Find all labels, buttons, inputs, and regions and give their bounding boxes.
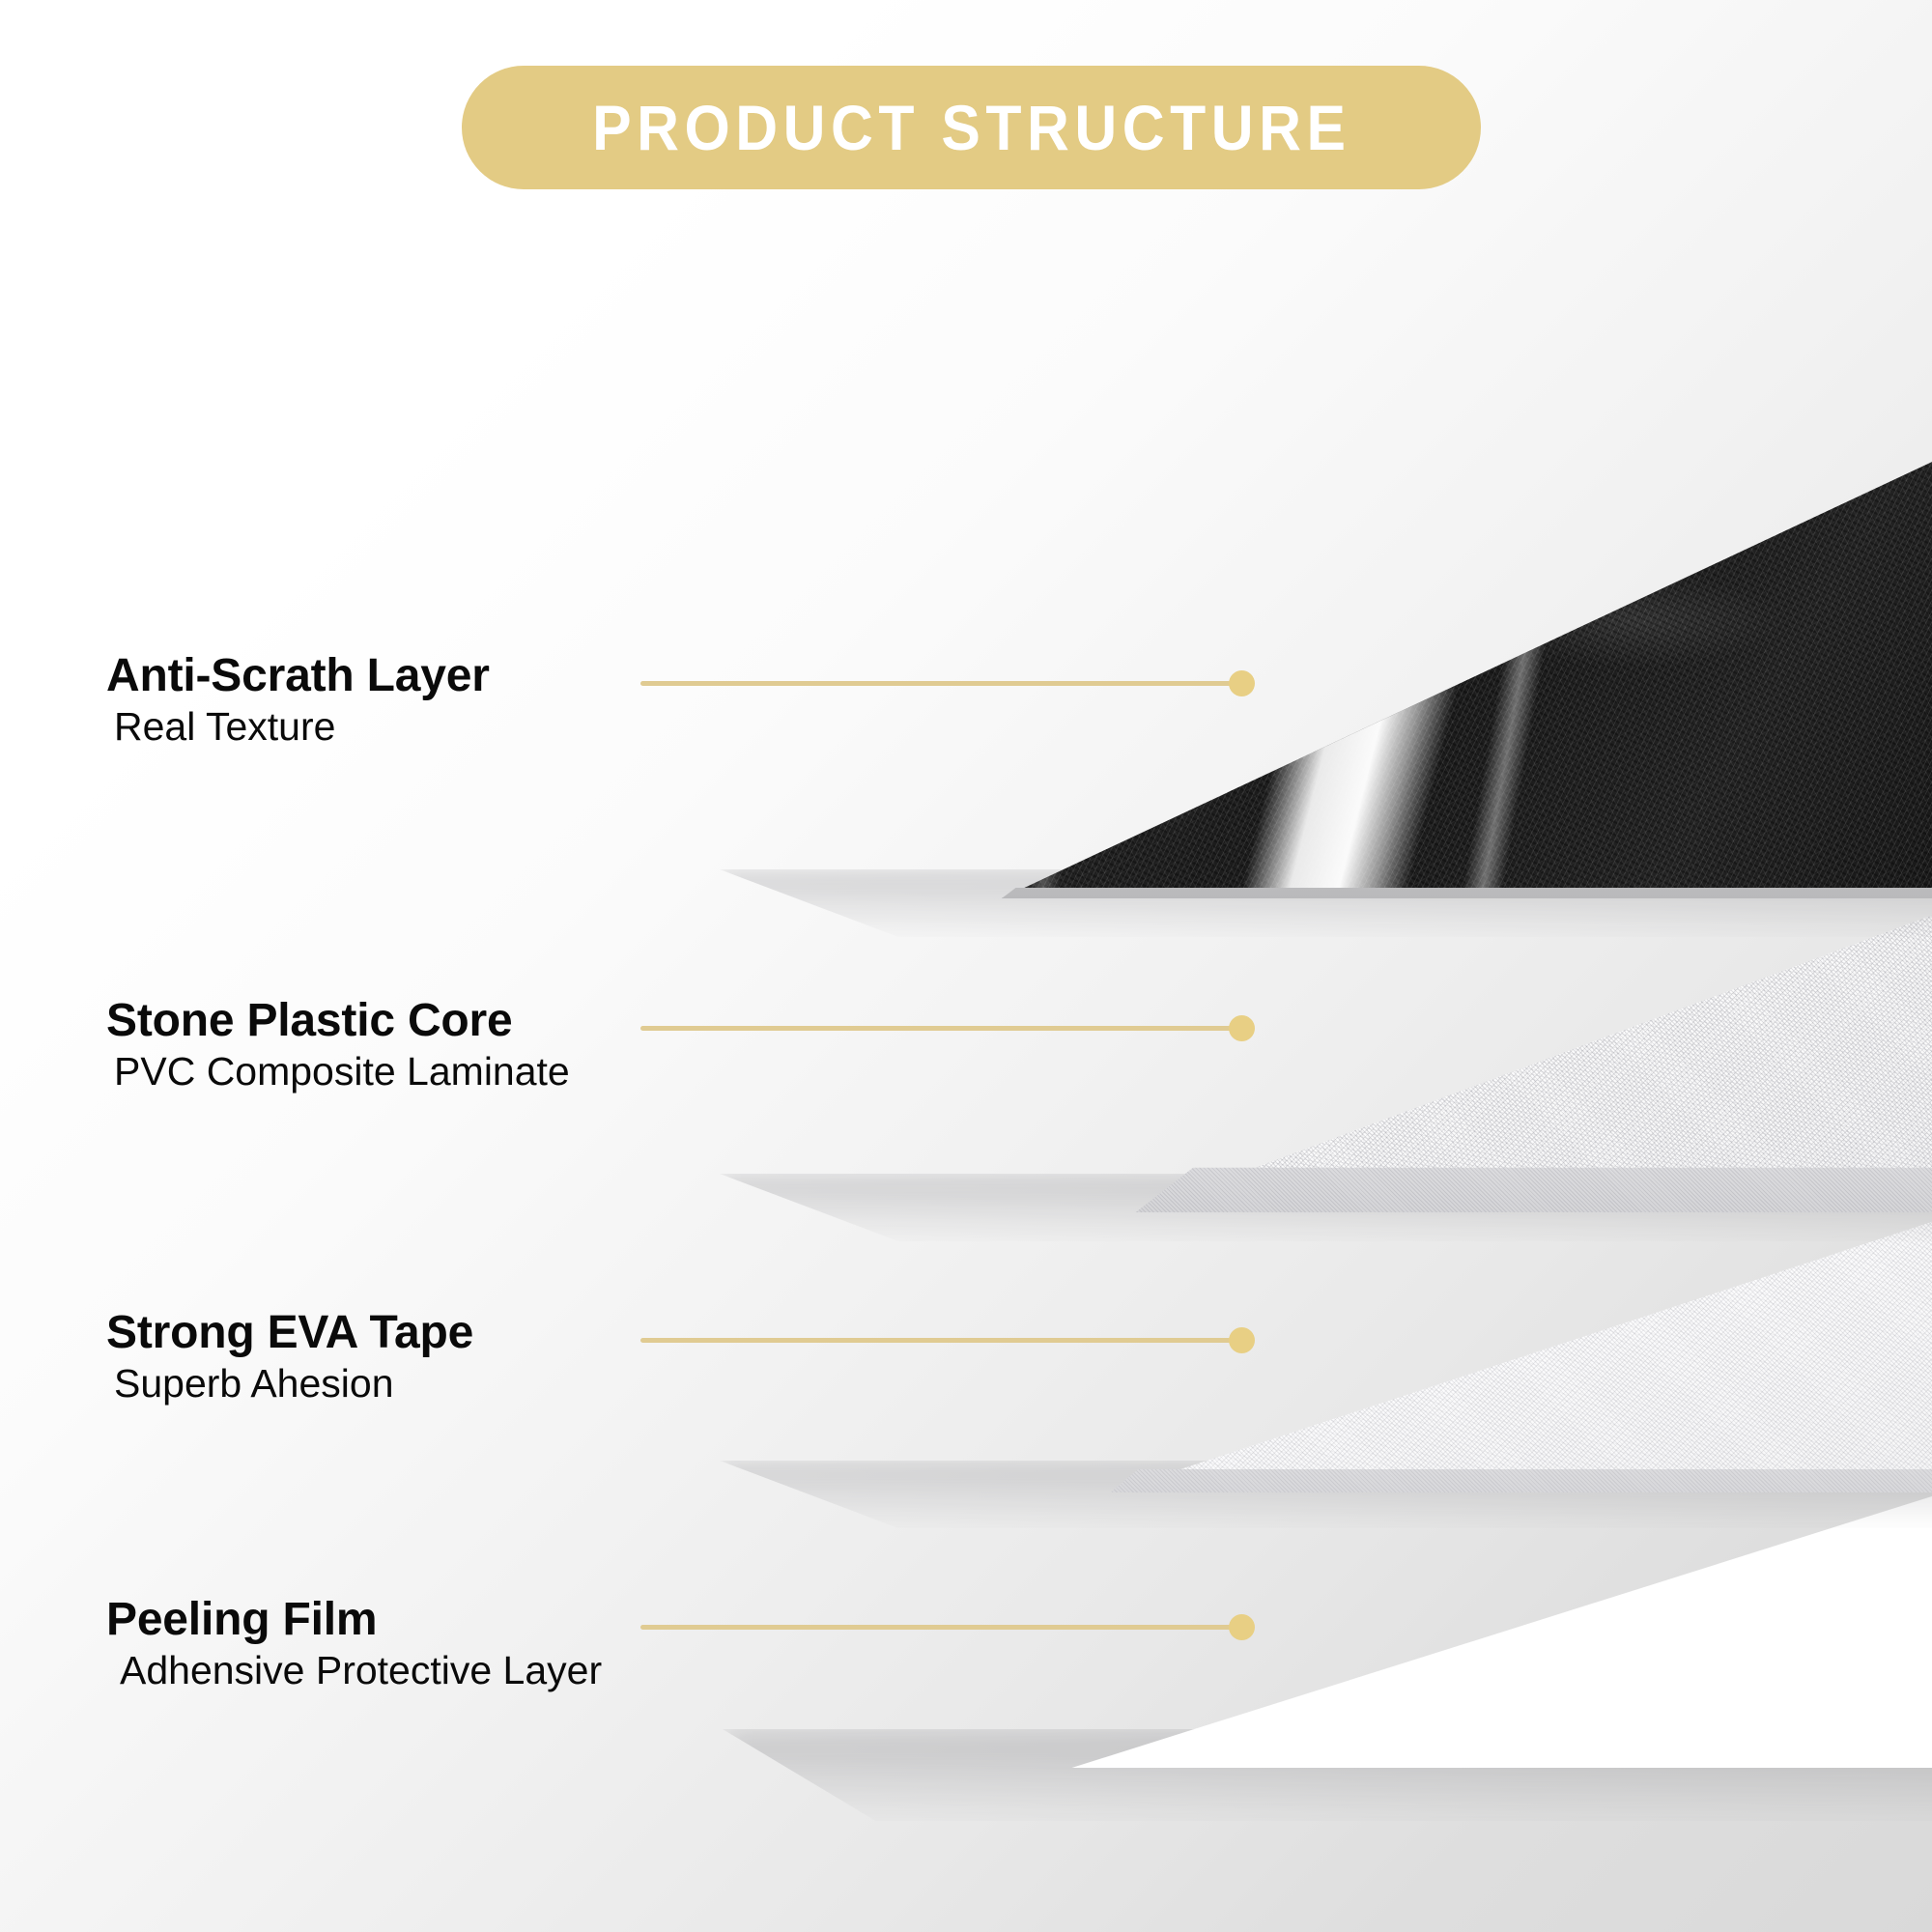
label-subtitle-peeling-film: Adhensive Protective Layer [106,1647,602,1694]
layer-slab-eva-tape [715,1203,1932,1492]
leader-line-eva-tape [640,1338,1244,1343]
leader-dot-stone-plastic-core [1229,1015,1255,1041]
label-eva-tape: Strong EVA Tape Superb Ahesion [106,1306,473,1407]
layer-surface-stone-plastic-core [715,894,1932,1212]
product-structure-infographic: PRODUCT STRUCTURE [0,0,1932,1932]
layer-surface-anti-scrath-marble [715,435,1932,898]
label-title-eva-tape: Strong EVA Tape [106,1306,473,1360]
label-title-peeling-film: Peeling Film [106,1593,602,1647]
layer-slab-anti-scrath [715,435,1932,898]
label-title-anti-scrath: Anti-Scrath Layer [106,649,490,703]
leader-dot-eva-tape [1229,1327,1255,1353]
leader-dot-peeling-film [1229,1614,1255,1640]
layer-surface-eva-tape [715,1203,1932,1492]
label-title-stone-plastic-core: Stone Plastic Core [106,994,570,1048]
label-anti-scrath: Anti-Scrath Layer Real Texture [106,649,490,751]
label-subtitle-stone-plastic-core: PVC Composite Laminate [106,1048,570,1095]
label-subtitle-eva-tape: Superb Ahesion [106,1360,473,1407]
leader-line-peeling-film [640,1625,1244,1630]
leader-line-anti-scrath [640,681,1244,686]
leader-dot-anti-scrath [1229,670,1255,696]
layer-slab-stone-plastic-core [715,894,1932,1212]
label-peeling-film: Peeling Film Adhensive Protective Layer [106,1593,602,1694]
label-subtitle-anti-scrath: Real Texture [106,703,490,751]
leader-line-stone-plastic-core [640,1026,1244,1031]
label-stone-plastic-core: Stone Plastic Core PVC Composite Laminat… [106,994,570,1095]
